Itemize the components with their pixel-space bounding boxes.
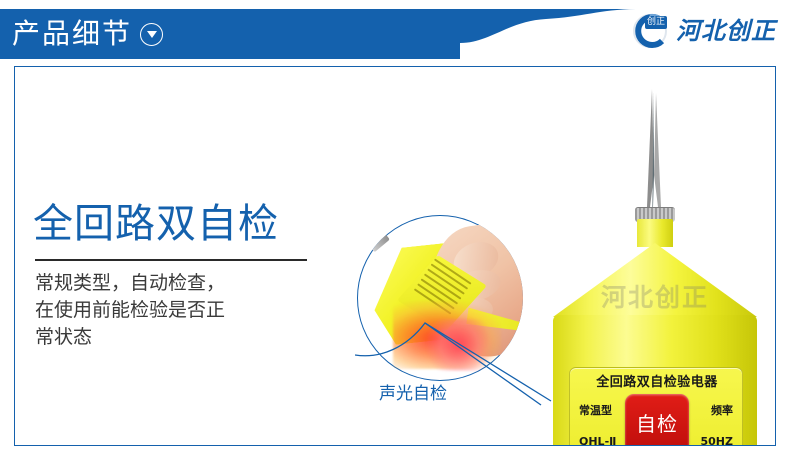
feature-description-line-1: 常规类型，自动检查， [35, 270, 333, 297]
self-check-button[interactable]: 自检 [625, 394, 689, 446]
feature-description: 常规类型，自动检查， 在使用前能检验是否正 常状态 [35, 270, 333, 351]
c-circle-logo-icon: 创正 [632, 13, 668, 49]
label-title: 全回路双自检验电器 [570, 375, 744, 391]
product-image: 河北创正 全回路双自检验电器 常温型 频率 自检 QHL-Ⅱ 50HZ 执行标准… [545, 67, 776, 446]
product-watermark: 河北创正 [579, 283, 731, 313]
label-model-number: QHL-Ⅱ [579, 435, 616, 446]
feature-title: 全回路双自检 [33, 199, 333, 249]
page-title: 产品细节 [12, 15, 132, 53]
feature-description-line-2: 在使用前能检验是否正 [35, 297, 333, 324]
detector-probe-shape [368, 232, 390, 253]
label-frequency-value: 50HZ [701, 435, 734, 446]
product-neck [637, 219, 673, 247]
content-frame: 全回路双自检 常规类型，自动检查， 在使用前能检验是否正 常状态 [14, 66, 776, 446]
label-temp-type: 常温型 [579, 404, 612, 418]
chevron-down-circle-icon[interactable] [140, 23, 163, 46]
feature-copy: 全回路双自检 常规类型，自动检查， 在使用前能检验是否正 常状态 [33, 199, 333, 351]
title-divider [35, 259, 307, 261]
product-label-plate: 全回路双自检验电器 常温型 频率 自检 QHL-Ⅱ 50HZ 执行标准：DL/T… [569, 367, 743, 446]
logo-badge-text: 创正 [645, 16, 667, 29]
label-frequency-heading: 频率 [711, 404, 733, 418]
callout-label: 声光自检 [379, 383, 447, 405]
self-check-button-label: 自检 [625, 412, 689, 436]
feature-description-line-3: 常状态 [35, 324, 333, 351]
brand-name: 河北创正 [676, 17, 776, 45]
brand-logo[interactable]: 创正 河北创正 [632, 10, 776, 52]
metal-fork-probe-icon [641, 89, 667, 211]
